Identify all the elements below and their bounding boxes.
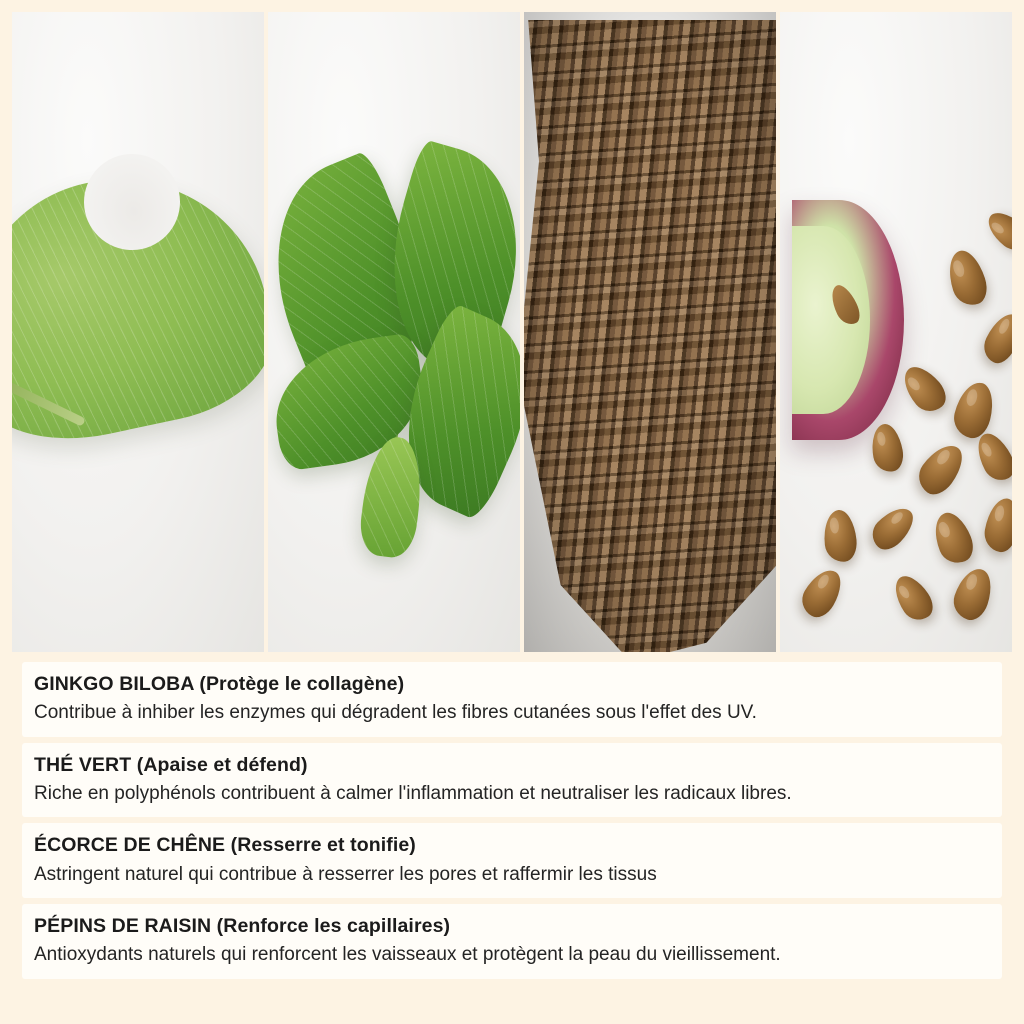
- fact-card-ginkgo-biloba: GINKGO BILOBA (Protège le collagène) Con…: [22, 662, 1002, 737]
- fact-card-pepins-de-raisin: PÉPINS DE RAISIN (Renforce les capillair…: [22, 904, 1002, 979]
- fact-title: PÉPINS DE RAISIN (Renforce les capillair…: [34, 914, 990, 938]
- fact-description: Contribue à inhiber les enzymes qui dégr…: [34, 701, 990, 725]
- fact-description: Antioxydants naturels qui renforcent les…: [34, 943, 990, 967]
- ingredient-name: PÉPINS DE RAISIN: [34, 915, 211, 937]
- oak-bark-texture: [524, 20, 776, 652]
- fact-card-the-vert: THÉ VERT (Apaise et défend) Riche en pol…: [22, 743, 1002, 818]
- ingredients-infographic: GINKGO BILOBA (Protège le collagène) Con…: [0, 0, 1024, 1024]
- ingredient-benefit: (Apaise et défend): [137, 754, 308, 776]
- fact-description: Riche en polyphénols contribuent à calme…: [34, 782, 990, 806]
- ingredient-name: GINKGO BILOBA: [34, 673, 194, 695]
- fact-description: Astringent naturel qui contribue à resse…: [34, 863, 990, 887]
- ingredient-name: ÉCORCE DE CHÊNE: [34, 834, 225, 856]
- fact-card-ecorce-de-chene: ÉCORCE DE CHÊNE (Resserre et tonifie) As…: [22, 823, 1002, 898]
- ingredient-facts-list: GINKGO BILOBA (Protège le collagène) Con…: [12, 652, 1012, 1024]
- ingredient-benefit: (Resserre et tonifie): [231, 834, 416, 856]
- ginkgo-leaf-photo: [12, 12, 264, 652]
- grape-seeds-photo: [780, 12, 1012, 652]
- ingredient-benefit: (Protège le collagène): [199, 673, 404, 695]
- ingredient-benefit: (Renforce les capillaires): [217, 915, 450, 937]
- ingredient-name: THÉ VERT: [34, 754, 131, 776]
- fact-title: GINKGO BILOBA (Protège le collagène): [34, 672, 990, 696]
- image-strip: [12, 12, 1012, 652]
- fact-title: THÉ VERT (Apaise et défend): [34, 753, 990, 777]
- green-tea-leaves-photo: [268, 12, 520, 652]
- ginkgo-leaf-graphic: [12, 180, 264, 510]
- oak-bark-photo: [524, 12, 776, 652]
- fact-title: ÉCORCE DE CHÊNE (Resserre et tonifie): [34, 833, 990, 857]
